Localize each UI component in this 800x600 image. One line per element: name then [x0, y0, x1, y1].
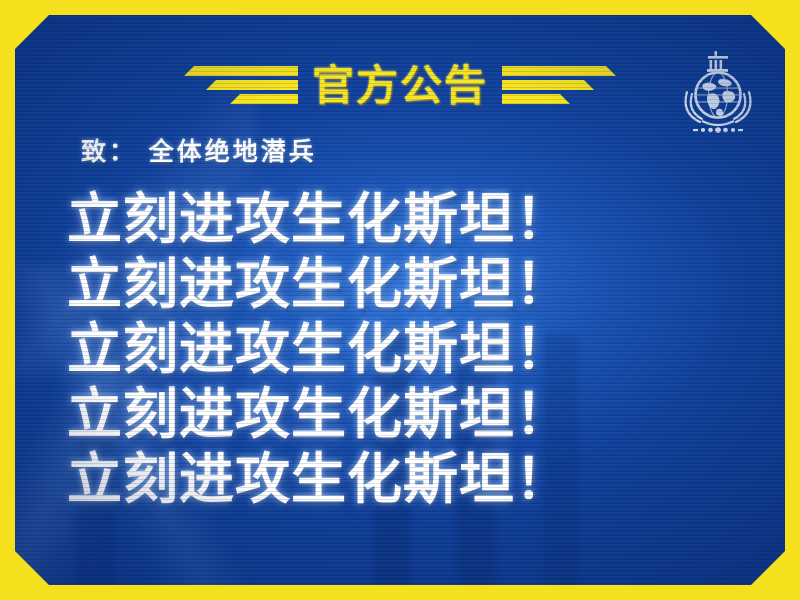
slogan-line: 立刻进攻生化斯坦！	[15, 246, 785, 311]
header: 官方公告	[15, 55, 785, 117]
slogan-line: 立刻进攻生化斯坦！	[15, 181, 785, 246]
addressee-line: 致： 全体绝地潜兵	[81, 132, 317, 168]
announcement-panel: 官方公告	[15, 15, 785, 585]
slogan-list: 立刻进攻生化斯坦！ 立刻进攻生化斯坦！ 立刻进攻生化斯坦！ 立刻进攻生化斯坦！ …	[15, 181, 785, 506]
announcement-poster: 官方公告	[0, 0, 800, 600]
slogan-line: 立刻进攻生化斯坦！	[15, 376, 785, 441]
page-title: 官方公告	[312, 65, 488, 107]
wing-stripes-left-icon	[180, 63, 298, 109]
slogan-line: 立刻进攻生化斯坦！	[15, 441, 785, 506]
wing-stripes-right-icon	[502, 63, 620, 109]
title-block: 官方公告	[140, 55, 660, 117]
super-earth-globe-emblem-icon	[679, 51, 757, 137]
slogan-line: 立刻进攻生化斯坦！	[15, 311, 785, 376]
